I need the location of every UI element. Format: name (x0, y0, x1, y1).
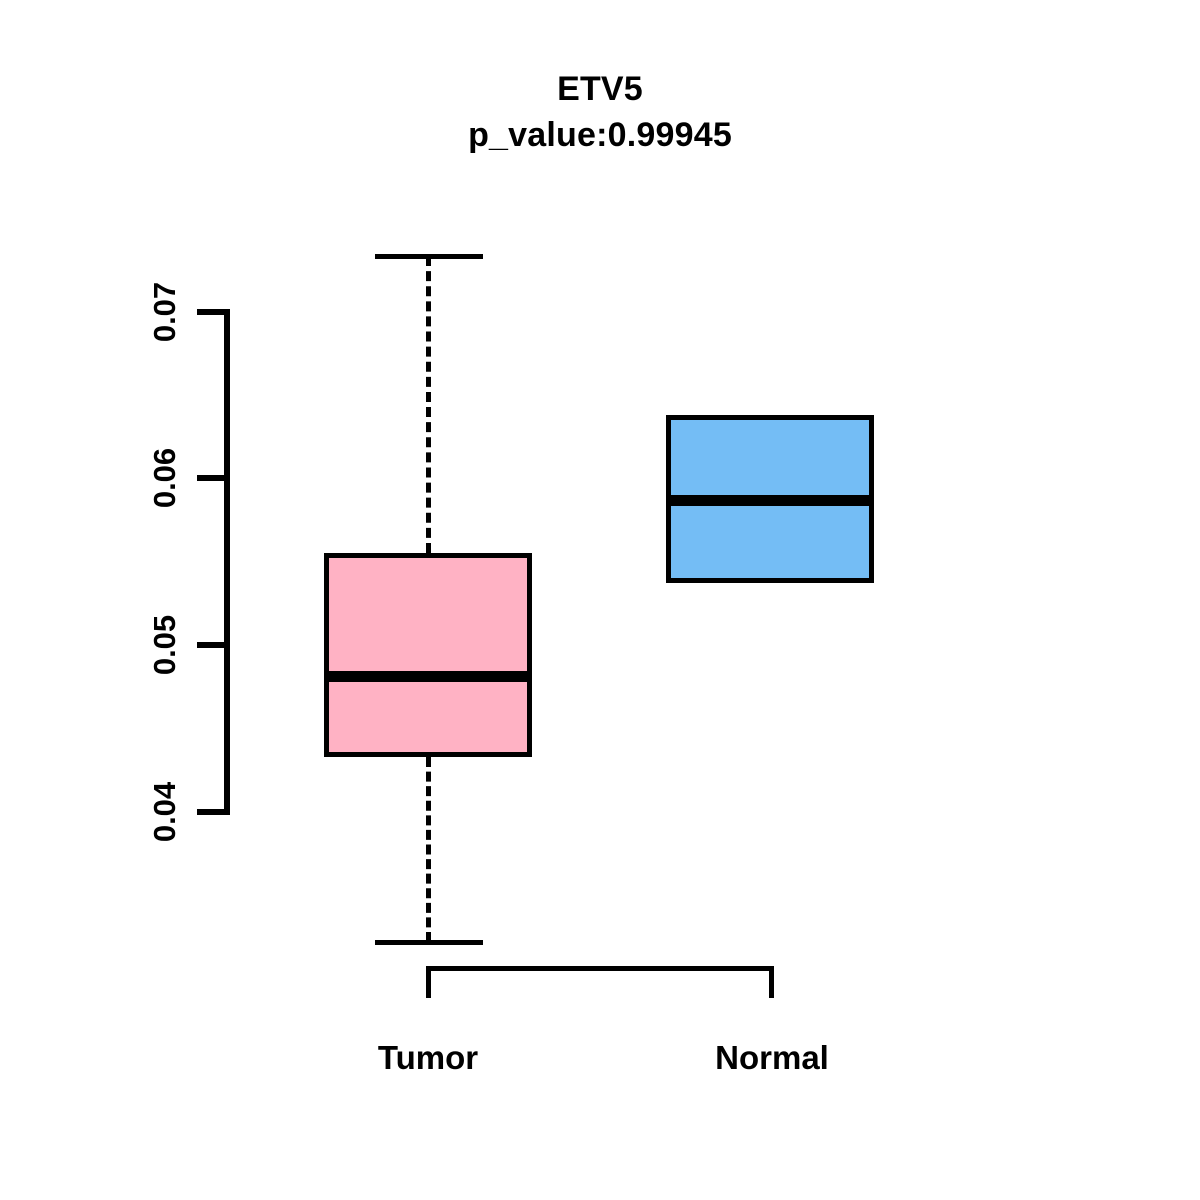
x-axis-tick-normal (769, 966, 774, 998)
tumor-median-line (324, 671, 532, 682)
boxplot-canvas: ETV5 p_value:0.99945 Methylation Level i… (0, 0, 1200, 1200)
y-axis-spine (224, 311, 230, 814)
y-axis-tick-label-0.04: 0.04 (148, 712, 182, 912)
tumor-upper-whisker-line (426, 256, 431, 553)
normal-median-line (666, 495, 874, 506)
chart-subtitle-pvalue: p_value:0.99945 (0, 112, 1200, 158)
x-axis-spine (426, 966, 774, 971)
chart-title-block: ETV5 p_value:0.99945 (0, 66, 1200, 158)
tumor-lower-whisker-cap (375, 940, 483, 945)
tumor-box (324, 553, 532, 757)
y-axis-tick-0.06 (197, 475, 230, 481)
y-axis-tick-0.07 (197, 309, 230, 315)
tumor-lower-whisker-line (426, 757, 431, 942)
y-axis-tick-0.04 (197, 809, 230, 815)
chart-title: ETV5 (557, 70, 643, 108)
x-axis-label-tumor: Tumor (278, 1038, 578, 1078)
x-axis-tick-tumor (426, 966, 431, 998)
y-axis-tick-0.05 (197, 642, 230, 648)
x-axis-label-normal: Normal (622, 1038, 922, 1078)
